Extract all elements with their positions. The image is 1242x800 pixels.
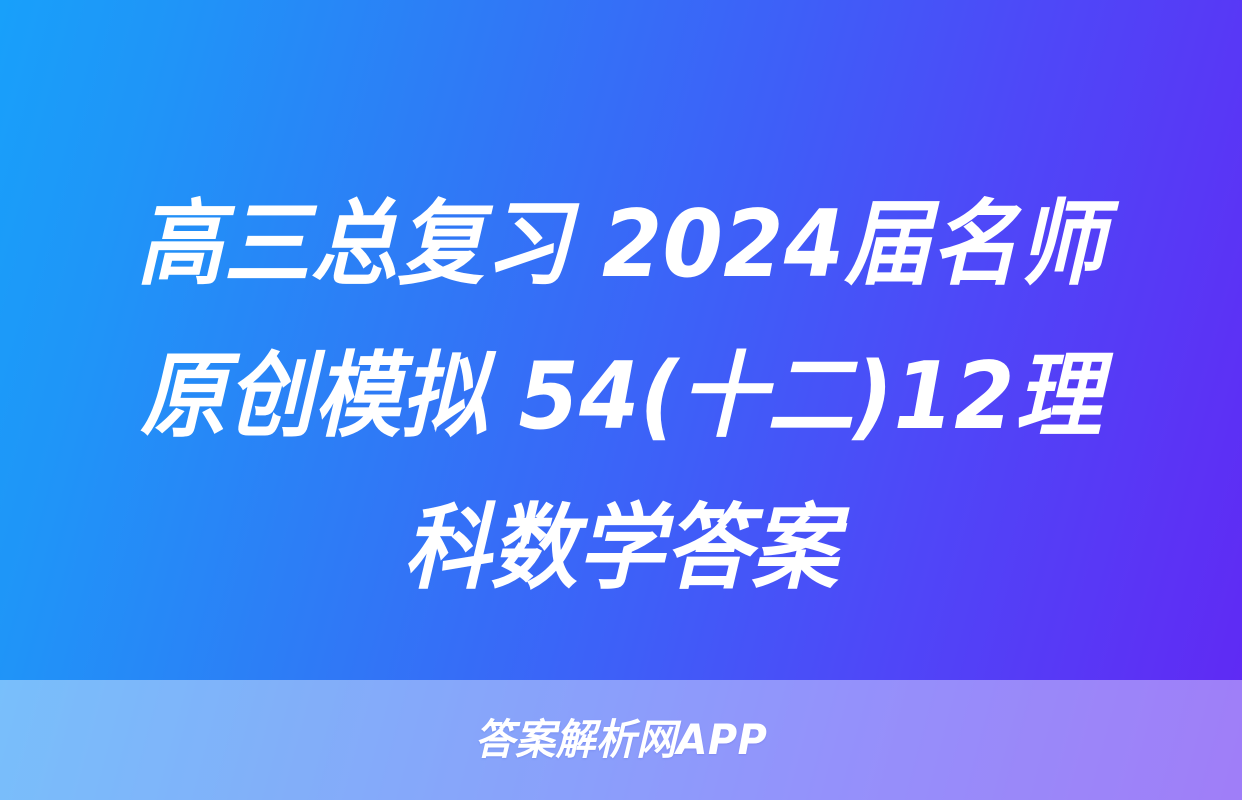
promo-banner: 高三总复习 2024届名师 原创模拟 54(十二)12理 科数学答案 答案解析网… — [0, 0, 1242, 800]
banner-title-line-2: 原创模拟 54(十二)12理 — [86, 320, 1156, 472]
footer-band: 答案解析网APP — [0, 680, 1242, 800]
banner-title-block: 高三总复习 2024届名师 原创模拟 54(十二)12理 科数学答案 — [0, 168, 1242, 638]
banner-title-line-1: 高三总复习 2024届名师 — [86, 168, 1156, 320]
banner-title-line-3: 科数学答案 — [86, 472, 1156, 624]
app-name-label: 答案解析网APP — [475, 717, 768, 763]
